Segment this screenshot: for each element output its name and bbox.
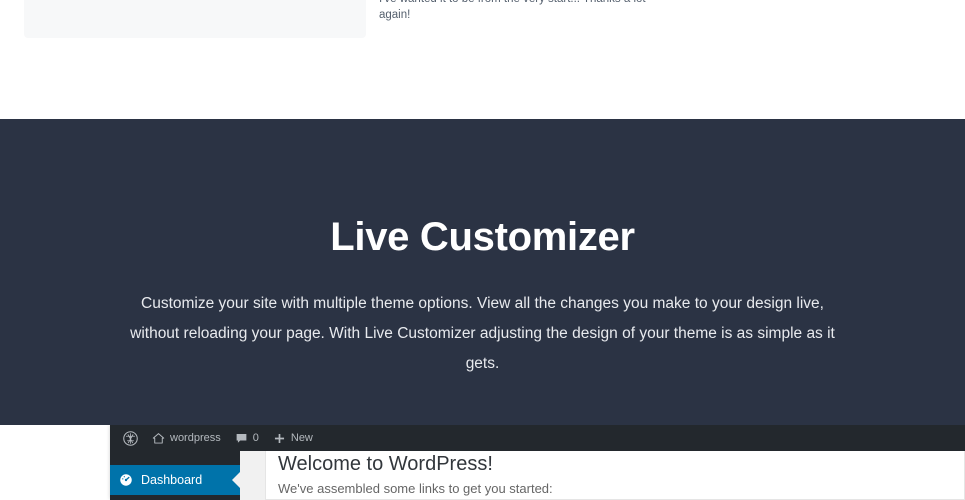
wp-admin-sidebar: Dashboard [110,451,240,500]
welcome-panel-subtitle: We've assembled some links to get you st… [278,480,952,498]
welcome-panel-title: Welcome to WordPress! [278,452,952,476]
wordpress-logo-icon [123,431,138,446]
dashboard-gauge-icon [119,473,133,487]
wordpress-admin-screenshot: wordpress 0 New [0,425,965,500]
home-icon [152,432,165,445]
sidebar-item-dashboard-label: Dashboard [141,473,202,487]
adminbar-new-label: New [291,425,313,451]
welcome-panel: Welcome to WordPress! We've assembled so… [265,451,965,500]
plus-icon [273,432,286,445]
testimonial-card [24,0,366,38]
adminbar-site-name-label: wordpress [170,425,221,451]
adminbar-site-name-item[interactable]: wordpress [145,425,228,451]
wp-admin-content-area: Welcome to WordPress! We've assembled so… [240,451,965,500]
adminbar-wp-logo-item[interactable] [116,425,145,451]
wp-admin-bar: wordpress 0 New [110,425,965,451]
comment-icon [235,432,248,445]
sidebar-item-dashboard[interactable]: Dashboard [110,465,240,495]
hero-description: Customize your site with multiple theme … [118,289,848,379]
live-customizer-hero-section: Live Customizer Customize your site with… [0,119,965,425]
page-title: Live Customizer [0,215,965,259]
admin-screenshot-frame: wordpress 0 New [110,425,965,500]
adminbar-comments-item[interactable]: 0 [228,425,266,451]
adminbar-comment-count: 0 [253,425,259,451]
testimonial-excerpt-text: I've wanted it to be from the very start… [379,0,647,23]
live-customizer-landing-page: I've wanted it to be from the very start… [0,0,965,500]
adminbar-new-content-item[interactable]: New [266,425,320,451]
previous-section-remnant: I've wanted it to be from the very start… [0,0,965,119]
